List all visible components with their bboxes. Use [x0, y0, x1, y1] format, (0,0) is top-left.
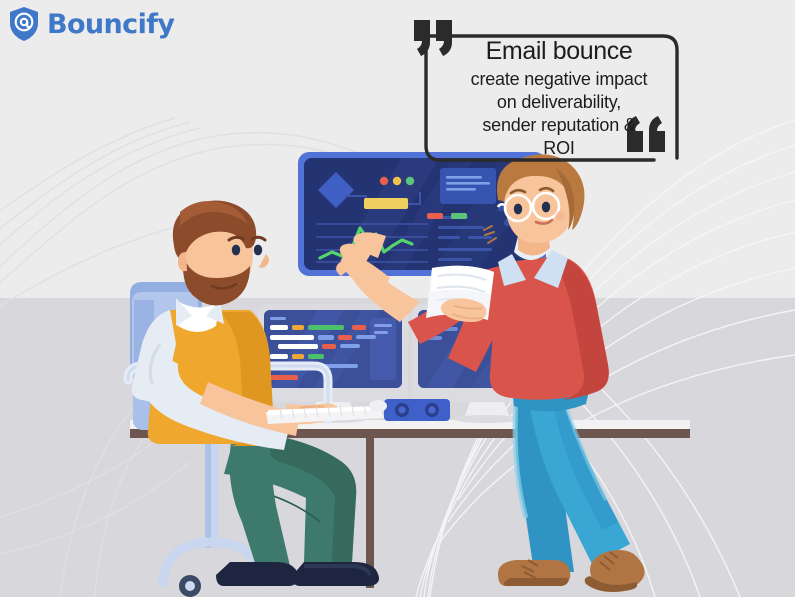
left-shoe — [498, 560, 570, 586]
quote-headline: Email bounce — [444, 36, 674, 67]
quote-callout: Email bounce create negative impact on d… — [408, 18, 693, 173]
quote-body-line-4: ROI — [444, 137, 674, 159]
quote-body-line-2: on deliverability, — [444, 91, 674, 113]
quote-text-block: Email bounce create negative impact on d… — [444, 36, 674, 159]
quote-body-line-1: create negative impact — [444, 68, 674, 90]
poster-canvas: Bouncify — [0, 0, 795, 597]
desktop-speaker — [384, 399, 450, 421]
quote-body-line-3: sender reputation & — [444, 114, 674, 136]
